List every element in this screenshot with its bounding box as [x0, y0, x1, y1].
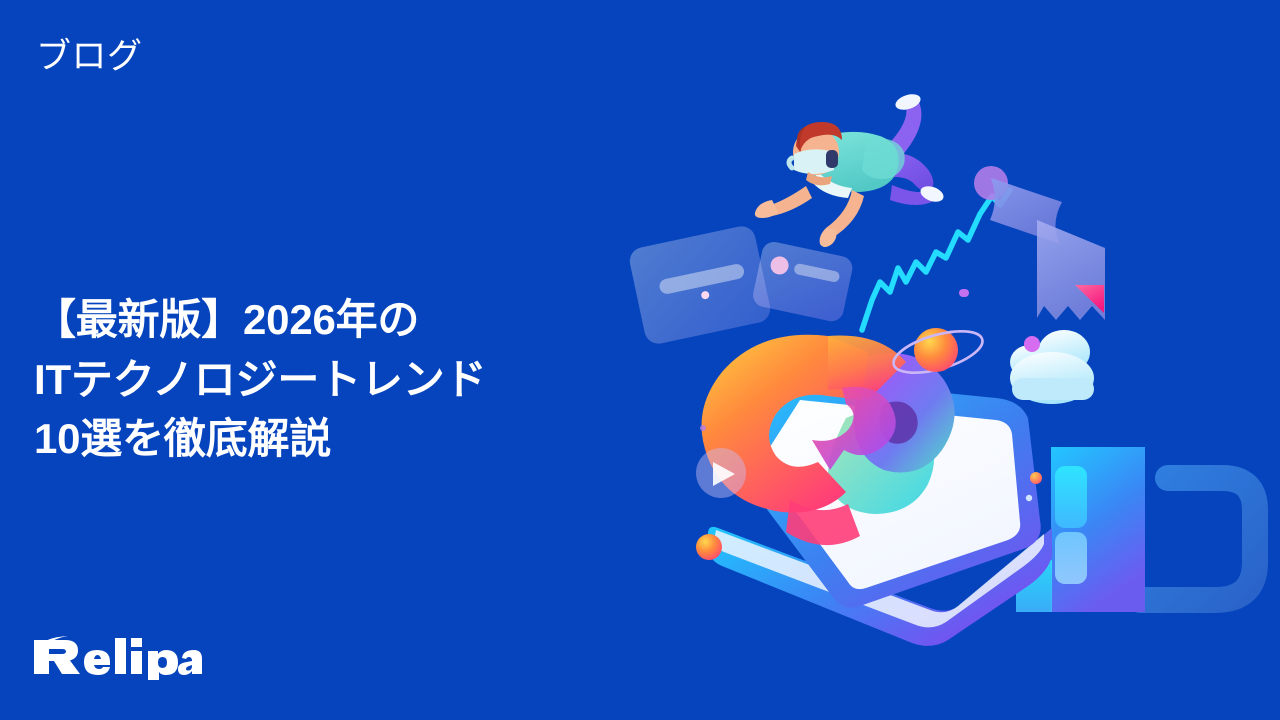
- page-title-line-2: ITテクノロジートレンド: [34, 350, 634, 410]
- relipa-logo-r-icon: [34, 636, 80, 674]
- accent-dot-purple: [700, 425, 706, 431]
- page-title-line-1: 【最新版】2026年の: [34, 290, 634, 350]
- orange-sphere-small-icon: [1030, 472, 1042, 484]
- hero-banner: ブログ 【最新版】2026年の ITテクノロジートレンド 10選を徹底解説: [0, 0, 1280, 720]
- page-title-line-3: 10選を徹底解説: [34, 409, 634, 469]
- accent-dot-pink: [961, 289, 969, 297]
- relipa-logo[interactable]: [32, 634, 202, 680]
- page-kicker: ブログ: [36, 36, 143, 78]
- orange-sphere-large-icon: [696, 534, 722, 560]
- play-button-circle-icon: [696, 448, 746, 498]
- page-title: 【最新版】2026年の ITテクノロジートレンド 10選を徹底解説: [34, 290, 634, 469]
